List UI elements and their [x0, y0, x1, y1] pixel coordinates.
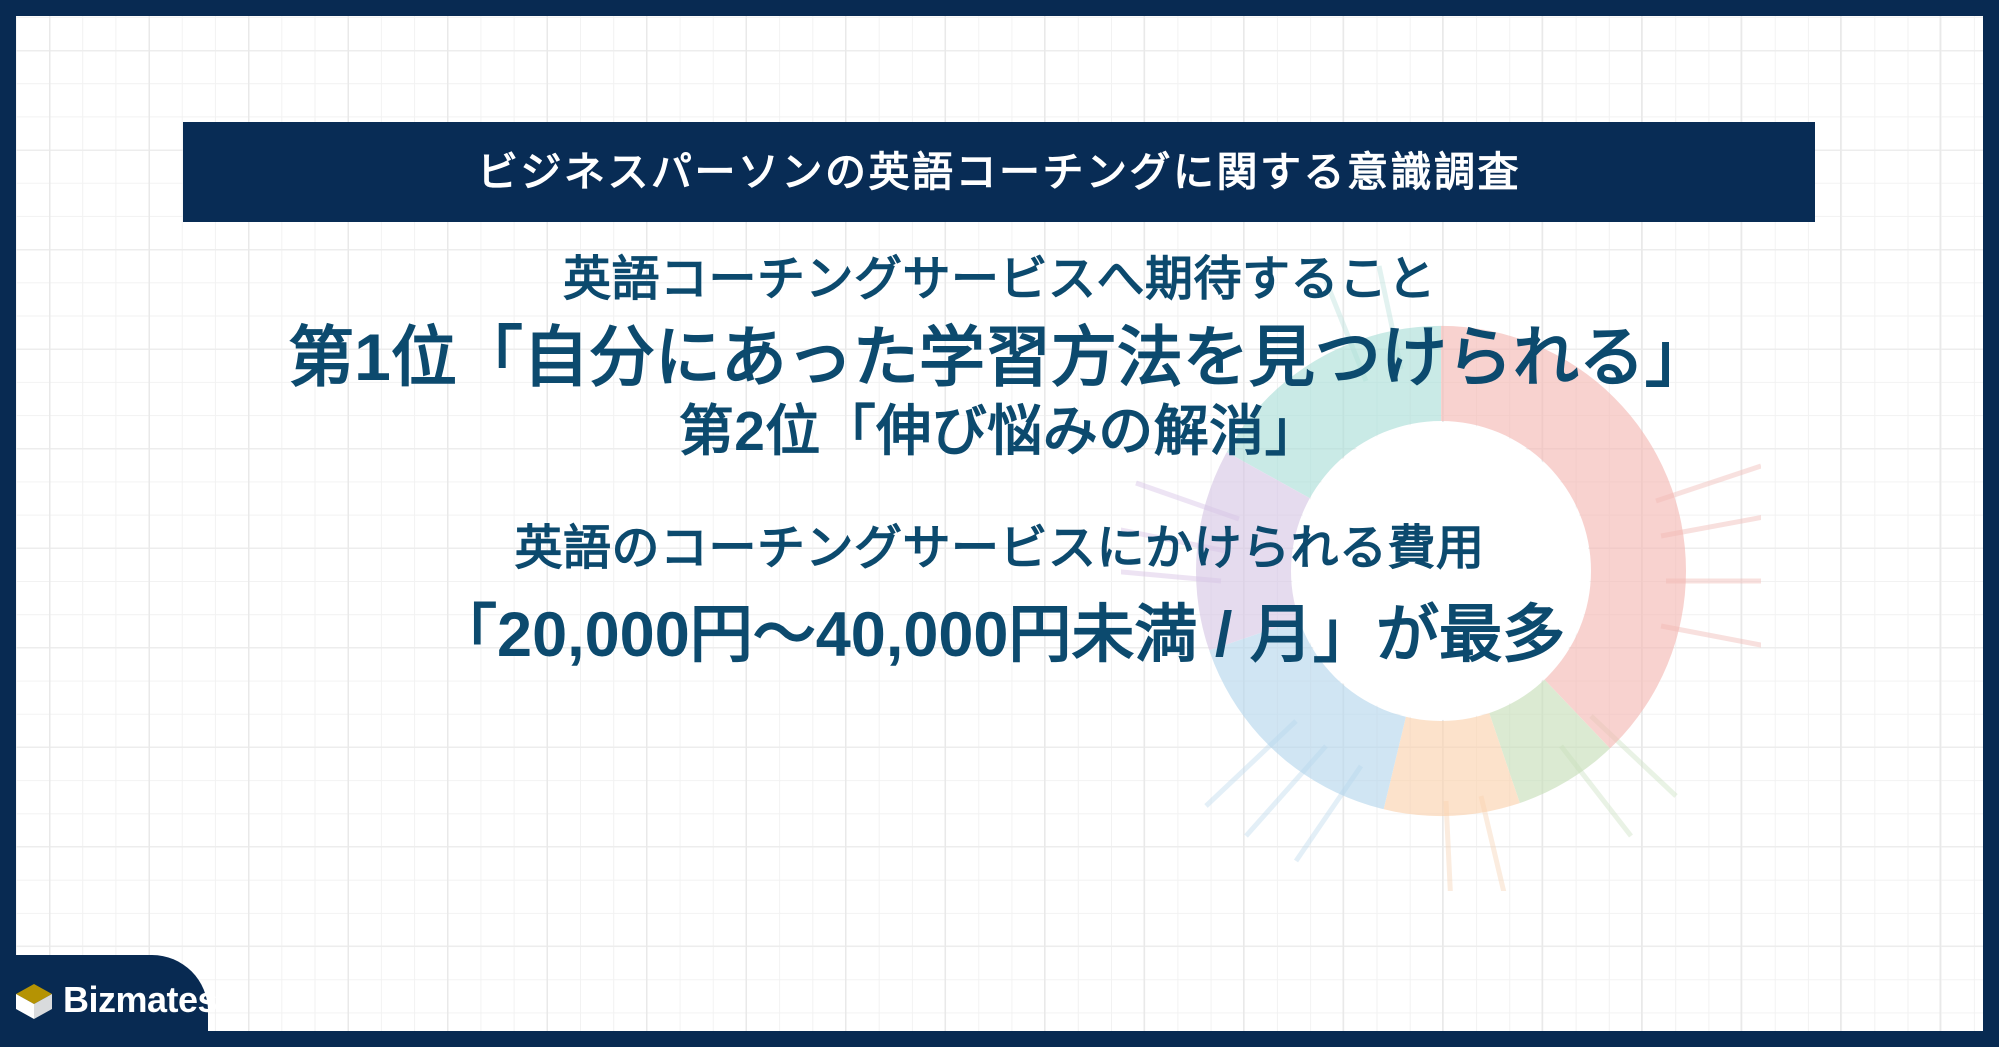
banner-title: ビジネスパーソンの英語コーチングに関する意識調査: [477, 152, 1521, 193]
bizmates-cube-icon: [14, 981, 54, 1021]
body-copy: 英語コーチングサービスへ期待すること 第1位「自分にあった学習方法を見つけられる…: [32, 226, 1967, 672]
paper-background: ビジネスパーソンの英語コーチングに関する意識調査 英語コーチングサービスへ期待す…: [16, 16, 1983, 1031]
bizmates-logo-tab[interactable]: Bizmates: [0, 955, 208, 1047]
body-spacer: [32, 463, 1967, 521]
budget-top-answer: 「20,000円〜40,000円未満 / 月」が最多: [32, 598, 1967, 672]
budget-heading: 英語のコーチングサービスにかけられる費用: [32, 521, 1967, 578]
header-banner: ビジネスパーソンの英語コーチングに関する意識調査: [183, 122, 1815, 222]
expectation-rank-1: 第1位「自分にあった学習方法を見つけられる」: [32, 319, 1967, 397]
expectation-rank-2: 第2位「伸び悩みの解消」: [32, 399, 1967, 464]
bizmates-wordmark: Bizmates: [63, 982, 217, 1021]
expectation-heading: 英語コーチングサービスへ期待すること: [32, 252, 1967, 309]
slide-root: ビジネスパーソンの英語コーチングに関する意識調査 英語コーチングサービスへ期待す…: [0, 0, 1999, 1047]
